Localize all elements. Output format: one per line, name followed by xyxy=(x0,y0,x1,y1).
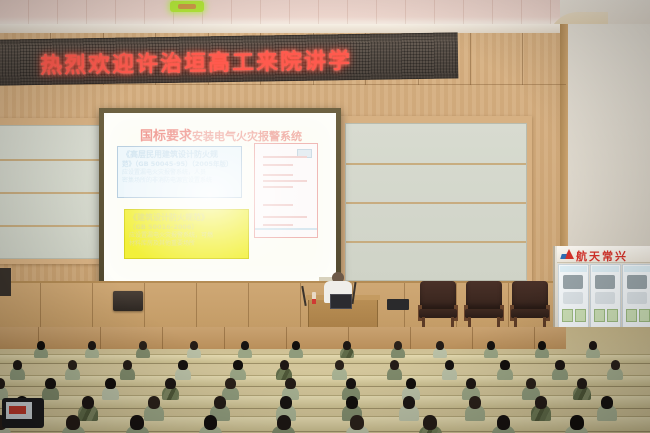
yellow-block-line2: （GB 50016-2006） xyxy=(129,223,244,232)
blue-block-line4: 密集场所的非消防电源宜设置系统 xyxy=(122,177,237,185)
audience-member-head xyxy=(277,415,291,430)
audience-member-head xyxy=(280,360,289,370)
audience-member-head xyxy=(601,396,613,409)
audience-member-head xyxy=(445,360,454,370)
slide-title: 国标要求安装电气火灾报警系统 xyxy=(140,125,302,144)
water-bottle xyxy=(312,292,316,304)
rear-panel-seam xyxy=(472,327,473,349)
audience-member-head xyxy=(66,415,80,430)
display-board-header: 航天常兴 xyxy=(557,246,650,263)
audience-member-head xyxy=(88,341,96,350)
blue-block-line3: 应设置漏电火灾报警系统，人员 xyxy=(122,169,237,177)
audience-member-head xyxy=(346,378,357,389)
rear-panel-seam xyxy=(162,327,163,349)
wall-speaker-left xyxy=(0,268,11,296)
acoustic-panel-left xyxy=(0,118,106,264)
panel-slat xyxy=(0,225,100,227)
audience-member-head xyxy=(178,360,187,370)
audience-member-head xyxy=(500,360,509,370)
audience-member-head xyxy=(423,415,437,430)
audience-member-head xyxy=(497,415,511,430)
audience-member-head xyxy=(45,378,56,389)
yellow-block-line1: 《建筑设计防火规范》 xyxy=(129,213,244,223)
audience-member-head xyxy=(611,360,620,370)
audience-member-head xyxy=(292,341,300,350)
stage-armchair-1 xyxy=(418,281,458,331)
audience-member-head xyxy=(390,360,399,370)
audience-member-head xyxy=(280,396,292,409)
audience-member-head xyxy=(469,396,481,409)
slide-title-main: 国标要求 xyxy=(140,129,192,144)
slide-block-blue: 《高层民用建筑设计防火规 范》（GB 50045-95）（2005年版） 应设置… xyxy=(117,146,242,198)
wood-panel-seam xyxy=(470,33,471,85)
panel-slat xyxy=(346,241,526,243)
document-text-line xyxy=(263,156,307,158)
yellow-block-line4: 材料库房及其他重要场所 xyxy=(129,240,244,248)
rear-panel-seam xyxy=(100,327,101,349)
audience-member-head xyxy=(535,396,547,409)
projection-screen-frame: 国标要求安装电气火灾报警系统 《高层民用建筑设计防火规 范》（GB 50045-… xyxy=(99,108,341,290)
audience-desk-row xyxy=(0,395,650,409)
yellow-block-line3: 应设置漏电火灾报警系统，可燃 xyxy=(129,232,244,240)
stage-armchair-3 xyxy=(510,281,550,331)
audience-member-head xyxy=(68,360,77,370)
ceiling-panel-lines xyxy=(0,0,650,24)
projection-screen: 国标要求安装电气火灾报警系统 《高层民用建筑设计防火规 范》（GB 50045-… xyxy=(104,113,336,285)
audience-member-head xyxy=(577,378,588,389)
slide-block-yellow: 《建筑设计防火规范》 （GB 50016-2006） 应设置漏电火灾报警系统，可… xyxy=(124,209,249,259)
audience-member-head xyxy=(241,341,249,350)
document-text-line xyxy=(263,180,307,182)
audience-member-head xyxy=(233,360,242,370)
audience-member-head xyxy=(346,396,358,409)
product-poster-1[interactable] xyxy=(558,264,589,332)
audience-member-head xyxy=(190,341,198,350)
rear-panel-seam xyxy=(410,327,411,349)
stage-armchair-2 xyxy=(464,281,504,331)
panel-slat xyxy=(0,159,100,161)
audience-member-head xyxy=(123,360,132,370)
audience-member-head xyxy=(105,378,116,389)
audience-member-head xyxy=(555,360,564,370)
audience-member-head xyxy=(526,378,537,389)
wall-speaker-right xyxy=(113,291,143,311)
audience-member-head xyxy=(589,341,597,350)
rear-panel-seam xyxy=(286,327,287,349)
audience-member-head xyxy=(139,341,147,350)
audience-member-head xyxy=(538,341,546,350)
hangtian-changxing-logo-icon xyxy=(561,249,573,259)
audience-member-head xyxy=(350,415,364,430)
product-poster-2[interactable] xyxy=(590,264,621,332)
exit-sign-light xyxy=(170,1,204,12)
audience-member-head xyxy=(214,396,226,409)
audience-member-head xyxy=(436,341,444,350)
display-board-brand: 航天常兴 xyxy=(576,248,628,264)
blue-block-line2: 范》（GB 50045-95）（2005年版） xyxy=(122,160,237,169)
audience-member-head xyxy=(225,378,236,389)
audience-member-head xyxy=(285,378,296,389)
document-text-line xyxy=(263,216,307,218)
product-display-board: 航天常兴 xyxy=(553,246,650,336)
audience-member-head xyxy=(403,396,415,409)
laptop-on-lectern xyxy=(330,294,352,309)
panel-slat xyxy=(0,192,100,194)
blue-block-line1: 《高层民用建筑设计防火规 xyxy=(122,150,237,160)
rear-panel-seam xyxy=(224,327,225,349)
audience-member-head xyxy=(13,360,22,370)
audience-member-head xyxy=(406,378,417,389)
document-text-line xyxy=(263,174,293,176)
audience-member-head xyxy=(0,378,5,389)
audience-member-head xyxy=(335,360,344,370)
audience-member-head xyxy=(570,415,584,430)
document-text-line xyxy=(263,186,293,188)
audience-member-head xyxy=(394,341,402,350)
stage-armchairs xyxy=(418,281,550,333)
led-banner-text: 热烈欢迎许治垣高工来院讲学 xyxy=(40,42,420,80)
audience-member-head xyxy=(130,415,144,430)
audience-member-head xyxy=(487,341,495,350)
document-footer-rule xyxy=(255,228,317,230)
audience-member-head xyxy=(204,415,218,430)
audience-member-head xyxy=(148,396,160,409)
rear-panel-seam xyxy=(534,327,535,349)
panel-slat xyxy=(346,163,526,165)
wood-panel-seam xyxy=(522,33,523,85)
camera-screen xyxy=(6,402,32,419)
audience-member-head xyxy=(343,341,351,350)
panel-slat xyxy=(346,202,526,204)
camera-device xyxy=(2,398,44,428)
equipment-box xyxy=(387,299,409,310)
document-text-line xyxy=(263,224,293,226)
slide-title-sub: 安装电气火灾报警系统 xyxy=(192,130,302,143)
audience-seating-area xyxy=(0,327,650,433)
rear-wood-paneling xyxy=(0,327,566,349)
audience-member-head xyxy=(37,341,45,350)
document-text-line xyxy=(263,164,293,166)
lecture-hall-photo: 热烈欢迎许治垣高工来院讲学 国标要求安装电气火灾报警系统 《高层民用建筑设计防火… xyxy=(0,0,650,433)
audience-member-head xyxy=(466,378,477,389)
product-poster-3[interactable] xyxy=(622,264,650,332)
audience-member-head xyxy=(165,378,176,389)
document-text-line xyxy=(263,204,293,206)
led-welcome-banner: 热烈欢迎许治垣高工来院讲学 xyxy=(0,32,458,85)
standard-document-image xyxy=(254,143,318,238)
audience-member-head xyxy=(82,396,94,409)
acoustic-panel-right xyxy=(338,116,532,286)
